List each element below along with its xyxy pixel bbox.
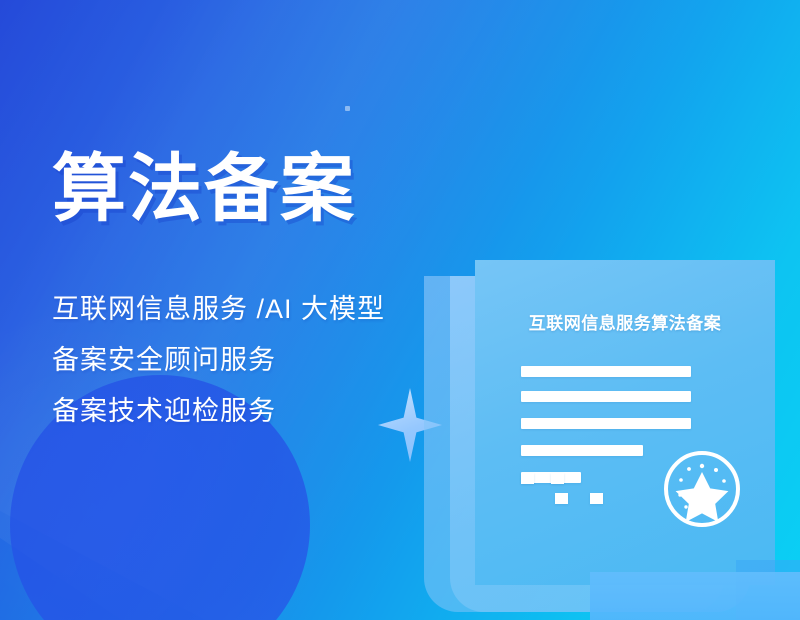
document-card-title: 互联网信息服务算法备案	[475, 309, 775, 334]
document-line	[521, 445, 643, 456]
banner-stage: 算法备案 互联网信息服务 /AI 大模型 备案安全顾问服务 备案技术迎检服务 互…	[0, 0, 800, 620]
document-card: 互联网信息服务算法备案	[475, 260, 775, 585]
star-seal-icon	[661, 448, 743, 530]
bottom-overlay-strip-decor	[590, 572, 800, 620]
document-square	[590, 493, 603, 504]
document-square	[551, 473, 564, 484]
document-square	[521, 473, 534, 484]
document-line	[521, 391, 691, 402]
document-line	[521, 418, 691, 429]
document-square	[555, 493, 568, 504]
document-line	[521, 366, 691, 377]
document-card-stack: 互联网信息服务算法备案	[0, 0, 800, 620]
document-square-row	[521, 473, 564, 484]
document-square-row	[555, 493, 603, 504]
